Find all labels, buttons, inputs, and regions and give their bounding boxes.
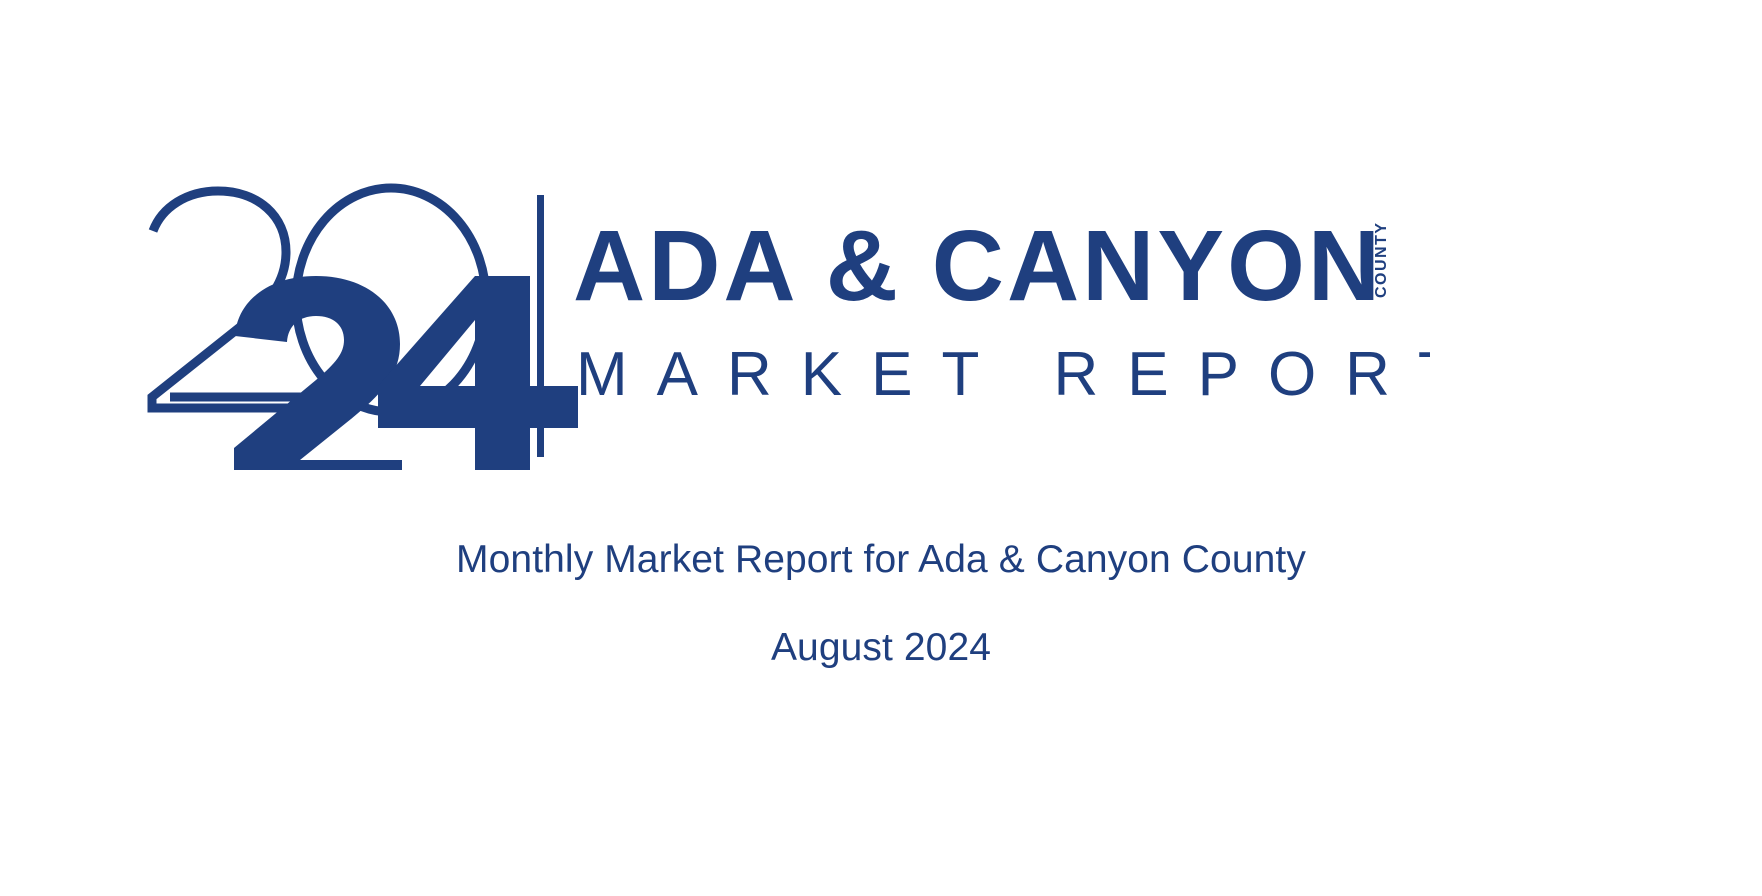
logo-brand-line1: ADA & CANYON	[573, 210, 1383, 322]
logo-year-solid-24	[234, 276, 578, 470]
logo-lockup: ADA & CANYON COUNTY MARKET REPORT	[0, 0, 1762, 520]
report-scope-line: Monthly Market Report for Ada & Canyon C…	[0, 540, 1762, 579]
logo-brand-line2: MARKET REPORT	[576, 340, 1430, 409]
report-period-line: August 2024	[0, 628, 1762, 667]
logo-brand-superscript: COUNTY	[1373, 221, 1390, 298]
logo-divider-rule	[537, 195, 544, 457]
subtitle-block: Monthly Market Report for Ada & Canyon C…	[0, 540, 1762, 667]
market-report-logo: ADA & CANYON COUNTY MARKET REPORT	[130, 180, 1430, 470]
